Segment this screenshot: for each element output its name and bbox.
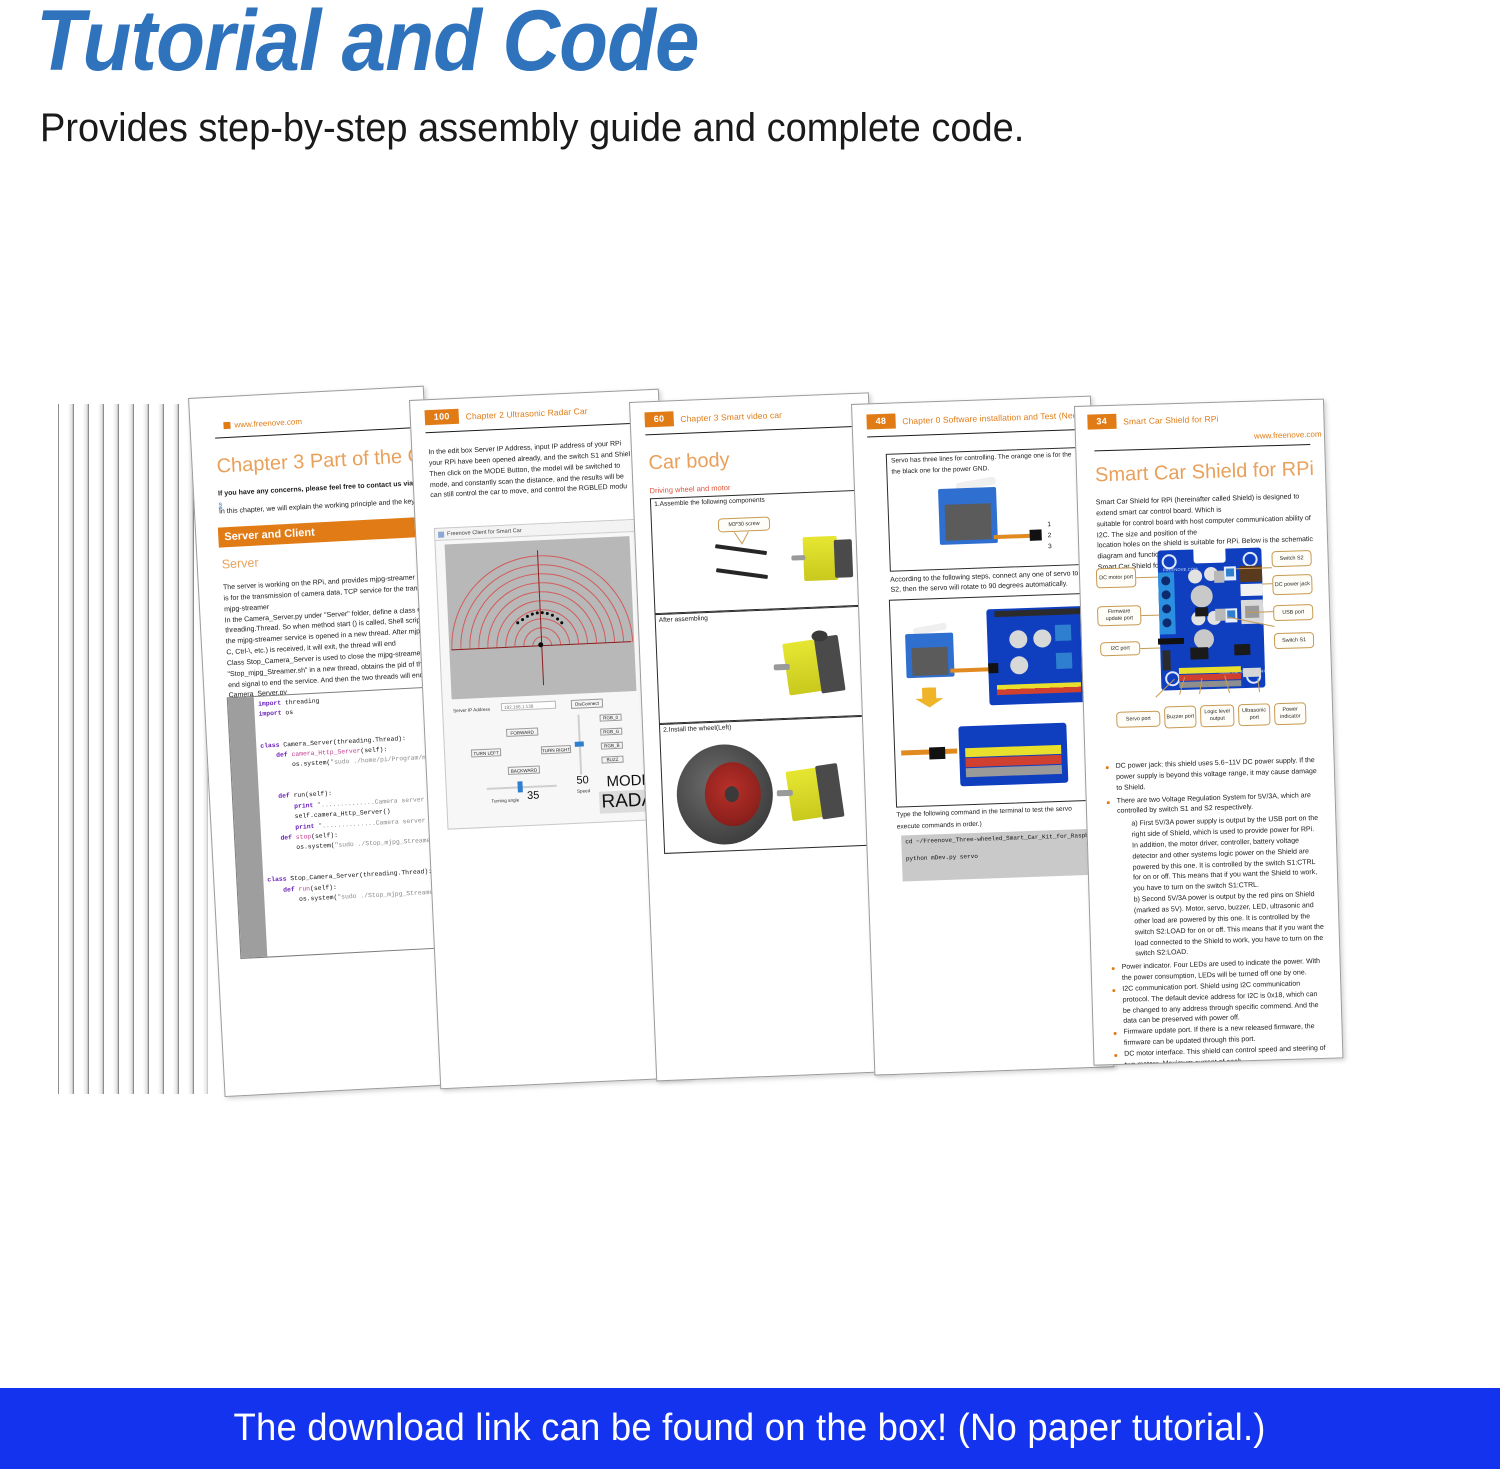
- brand-line: www.freenove.com: [1254, 429, 1333, 440]
- code-block: import threading import os class Camera_…: [227, 686, 448, 959]
- terminal-instruction: Type the following command in the termin…: [896, 806, 1072, 819]
- buzzer-button[interactable]: BUZZ: [601, 756, 623, 764]
- callout-power-indicator: Power indicator: [1274, 702, 1307, 725]
- sub-bullet-b: b) Second 5V/3A power is output by the r…: [1110, 890, 1326, 961]
- speed-slider-knob[interactable]: [575, 741, 584, 746]
- speed-value: 50: [576, 774, 589, 787]
- bullet-icon: [1114, 1032, 1117, 1035]
- bullet-icon: [1107, 801, 1110, 804]
- brand-text: www.freenove.com: [1254, 430, 1322, 441]
- doc-subheading: Driving wheel and motor: [649, 483, 730, 495]
- servo-connector: [1030, 529, 1042, 540]
- header-rule: [867, 429, 1082, 438]
- screw-2: [716, 568, 768, 579]
- wire-number-2: 2: [1048, 532, 1052, 539]
- order-note: execute commands in order.): [897, 821, 982, 831]
- callout-logic-level-output: Logic level output: [1200, 704, 1235, 727]
- bullet-icon: [1112, 989, 1115, 992]
- turn-left-button[interactable]: TURN LEFT: [471, 748, 501, 757]
- motor-shaft: [791, 555, 805, 561]
- radar-origin-dot: [538, 642, 543, 647]
- rgb-g-button[interactable]: RGB_G: [600, 728, 622, 736]
- intro-block: In the edit box Server IP Address, input…: [428, 438, 655, 502]
- bullet-text: I2C communication port. Shield using I2C…: [1122, 979, 1327, 1028]
- figure-caption: 2.Install the wheel(Left): [663, 724, 731, 734]
- down-arrow-icon: [915, 687, 944, 708]
- callout-ultrasonic-port: Ultrasonic port: [1238, 703, 1271, 726]
- download-banner: The download link can be found on the bo…: [0, 1388, 1500, 1469]
- motor-shaft: [774, 664, 790, 671]
- bullet-text: DC power jack: this shield uses 5.6~11V …: [1116, 756, 1321, 795]
- document-fan: www.freenove.com Chapter 3 Part of the C…: [0, 340, 1500, 1200]
- header-rule: [1094, 444, 1310, 451]
- radar-canvas: [445, 536, 637, 699]
- figure-servo-wires: Servo has three lines for controlling. T…: [886, 447, 1086, 572]
- running-head: 60 Chapter 3 Smart video car: [644, 407, 782, 427]
- callout-firmware-update-port: Firmware update port: [1097, 605, 1142, 626]
- wire-number-3: 3: [1048, 543, 1052, 550]
- freenove-square-icon: [223, 422, 230, 429]
- servo-case: [945, 503, 992, 541]
- subsection-heading: Server: [221, 556, 259, 572]
- section-bar: Server and Client: [218, 516, 436, 547]
- figure-caption: After assembling: [659, 615, 708, 624]
- screw-1: [715, 544, 767, 555]
- figure-caption: Servo has three lines for controlling. T…: [891, 451, 1072, 464]
- doc-heading: Car body: [648, 449, 730, 475]
- callout-switch-s2: Switch S2: [1271, 550, 1311, 567]
- sheet-chapter0-servo[interactable]: 48 Chapter 0 Software installation and T…: [851, 396, 1114, 1076]
- body-block: The server is working on the RPi, and pr…: [223, 573, 434, 703]
- figure-install-wheel: 2.Install the wheel(Left): [659, 716, 876, 854]
- running-head: 34 Smart Car Shield for RPi: [1087, 411, 1218, 430]
- figure-step-1: 1.Assemble the following components M3*3…: [650, 490, 866, 614]
- page-number-badge: 60: [644, 411, 673, 427]
- freenove-square-icon: [1325, 430, 1332, 437]
- header-rule: [645, 426, 860, 436]
- disconnect-button[interactable]: DisConnect: [571, 699, 603, 709]
- page-subtitle: Provides step-by-step assembly guide and…: [40, 108, 1024, 148]
- intro-text: If you have any concerns, please feel fr…: [218, 480, 413, 497]
- rgb-r-button[interactable]: RGB_0: [599, 714, 621, 722]
- running-head-text: Smart Car Shield for RPi: [1123, 413, 1219, 426]
- figure-servo-connect: [889, 593, 1096, 808]
- callout-i2c-port: I2C port: [1100, 641, 1140, 656]
- brand-text: www.freenove.com: [234, 417, 302, 430]
- brand-line: www.freenove.com: [223, 417, 302, 430]
- angle-label: Turning angle: [491, 797, 519, 803]
- figure-caption: the black one for the power GND.: [891, 465, 989, 475]
- figure-shield-diagram: FREENOVE.COM Smart Car Shield for RPi: [1095, 542, 1321, 756]
- bullet-icon: [1112, 967, 1115, 970]
- angle-slider-knob[interactable]: [517, 781, 522, 792]
- motor-shaft: [777, 790, 793, 797]
- page-title: Tutorial and Code: [36, 0, 699, 84]
- rgb-b-button[interactable]: RGB_B: [601, 742, 623, 750]
- callout-usb-port: USB port: [1273, 604, 1313, 621]
- ip-label: Server IP Address: [453, 707, 490, 714]
- doc-heading: Smart Car Shield for RPi: [1095, 458, 1315, 487]
- app-icon: [438, 531, 444, 537]
- callout-switch-s1: Switch S1: [1274, 632, 1314, 649]
- motor-gear: [834, 539, 854, 578]
- ip-input[interactable]: 192.168.1.138: [501, 701, 556, 711]
- forward-button[interactable]: FORWARD: [506, 727, 538, 736]
- callout-buzzer-port: Buzzer port: [1164, 706, 1197, 729]
- callout-m3-screw: M3*30 screw: [718, 516, 771, 532]
- page-number-badge: 100: [424, 409, 459, 426]
- command-block: cd ~/Freenove_Three-wheeled_Smart_Car_Ki…: [901, 829, 1098, 882]
- turn-right-button[interactable]: TURN RIGHT: [541, 745, 571, 754]
- page-stack-edges: [58, 404, 210, 1094]
- page-number-badge: 34: [1087, 414, 1116, 430]
- shield-pcb: FREENOVE.COM Smart Car Shield for RPi: [1157, 548, 1265, 691]
- bullet-list: DC power jack: this shield uses 5.6~11V …: [1106, 756, 1329, 1066]
- running-head-text: Chapter 3 Smart video car: [680, 409, 782, 423]
- figure-after-assembling: After assembling: [655, 606, 871, 724]
- callout-dc-motor-port: DC motor port: [1096, 567, 1137, 588]
- page-number-badge: 48: [866, 413, 895, 429]
- backward-button[interactable]: BACKWARD: [508, 765, 540, 774]
- sub-bullet-a: a) First 5V/3A power supply is output by…: [1107, 814, 1323, 896]
- speed-label: Speed: [577, 788, 591, 794]
- bullet-icon: [1106, 766, 1109, 769]
- wire-number-1: 1: [1047, 521, 1051, 528]
- callout-dc-power-jack: DC power jack: [1272, 574, 1313, 595]
- sheet-smart-car-shield[interactable]: 34 Smart Car Shield for RPi www.freenove…: [1074, 399, 1343, 1066]
- figure-caption: 1.Assemble the following components: [654, 497, 765, 508]
- callout-servo-port: Servo port: [1116, 711, 1160, 728]
- running-head-text: Chapter 2 Ultrasonic Radar Car: [465, 405, 587, 421]
- running-head: 100 Chapter 2 Ultrasonic Radar Car: [424, 403, 587, 425]
- servo-wire: [994, 534, 1032, 539]
- bullet-icon: [1114, 1054, 1117, 1057]
- ip-value: 192.168.1.138: [504, 703, 534, 709]
- window-title: Freenove Client for Smart Car: [447, 528, 522, 537]
- download-banner-text: The download link can be found on the bo…: [234, 1407, 1266, 1450]
- header-rule: [425, 422, 650, 433]
- running-head: 48 Chapter 0 Software installation and T…: [866, 406, 1105, 429]
- angle-value: 35: [527, 790, 540, 803]
